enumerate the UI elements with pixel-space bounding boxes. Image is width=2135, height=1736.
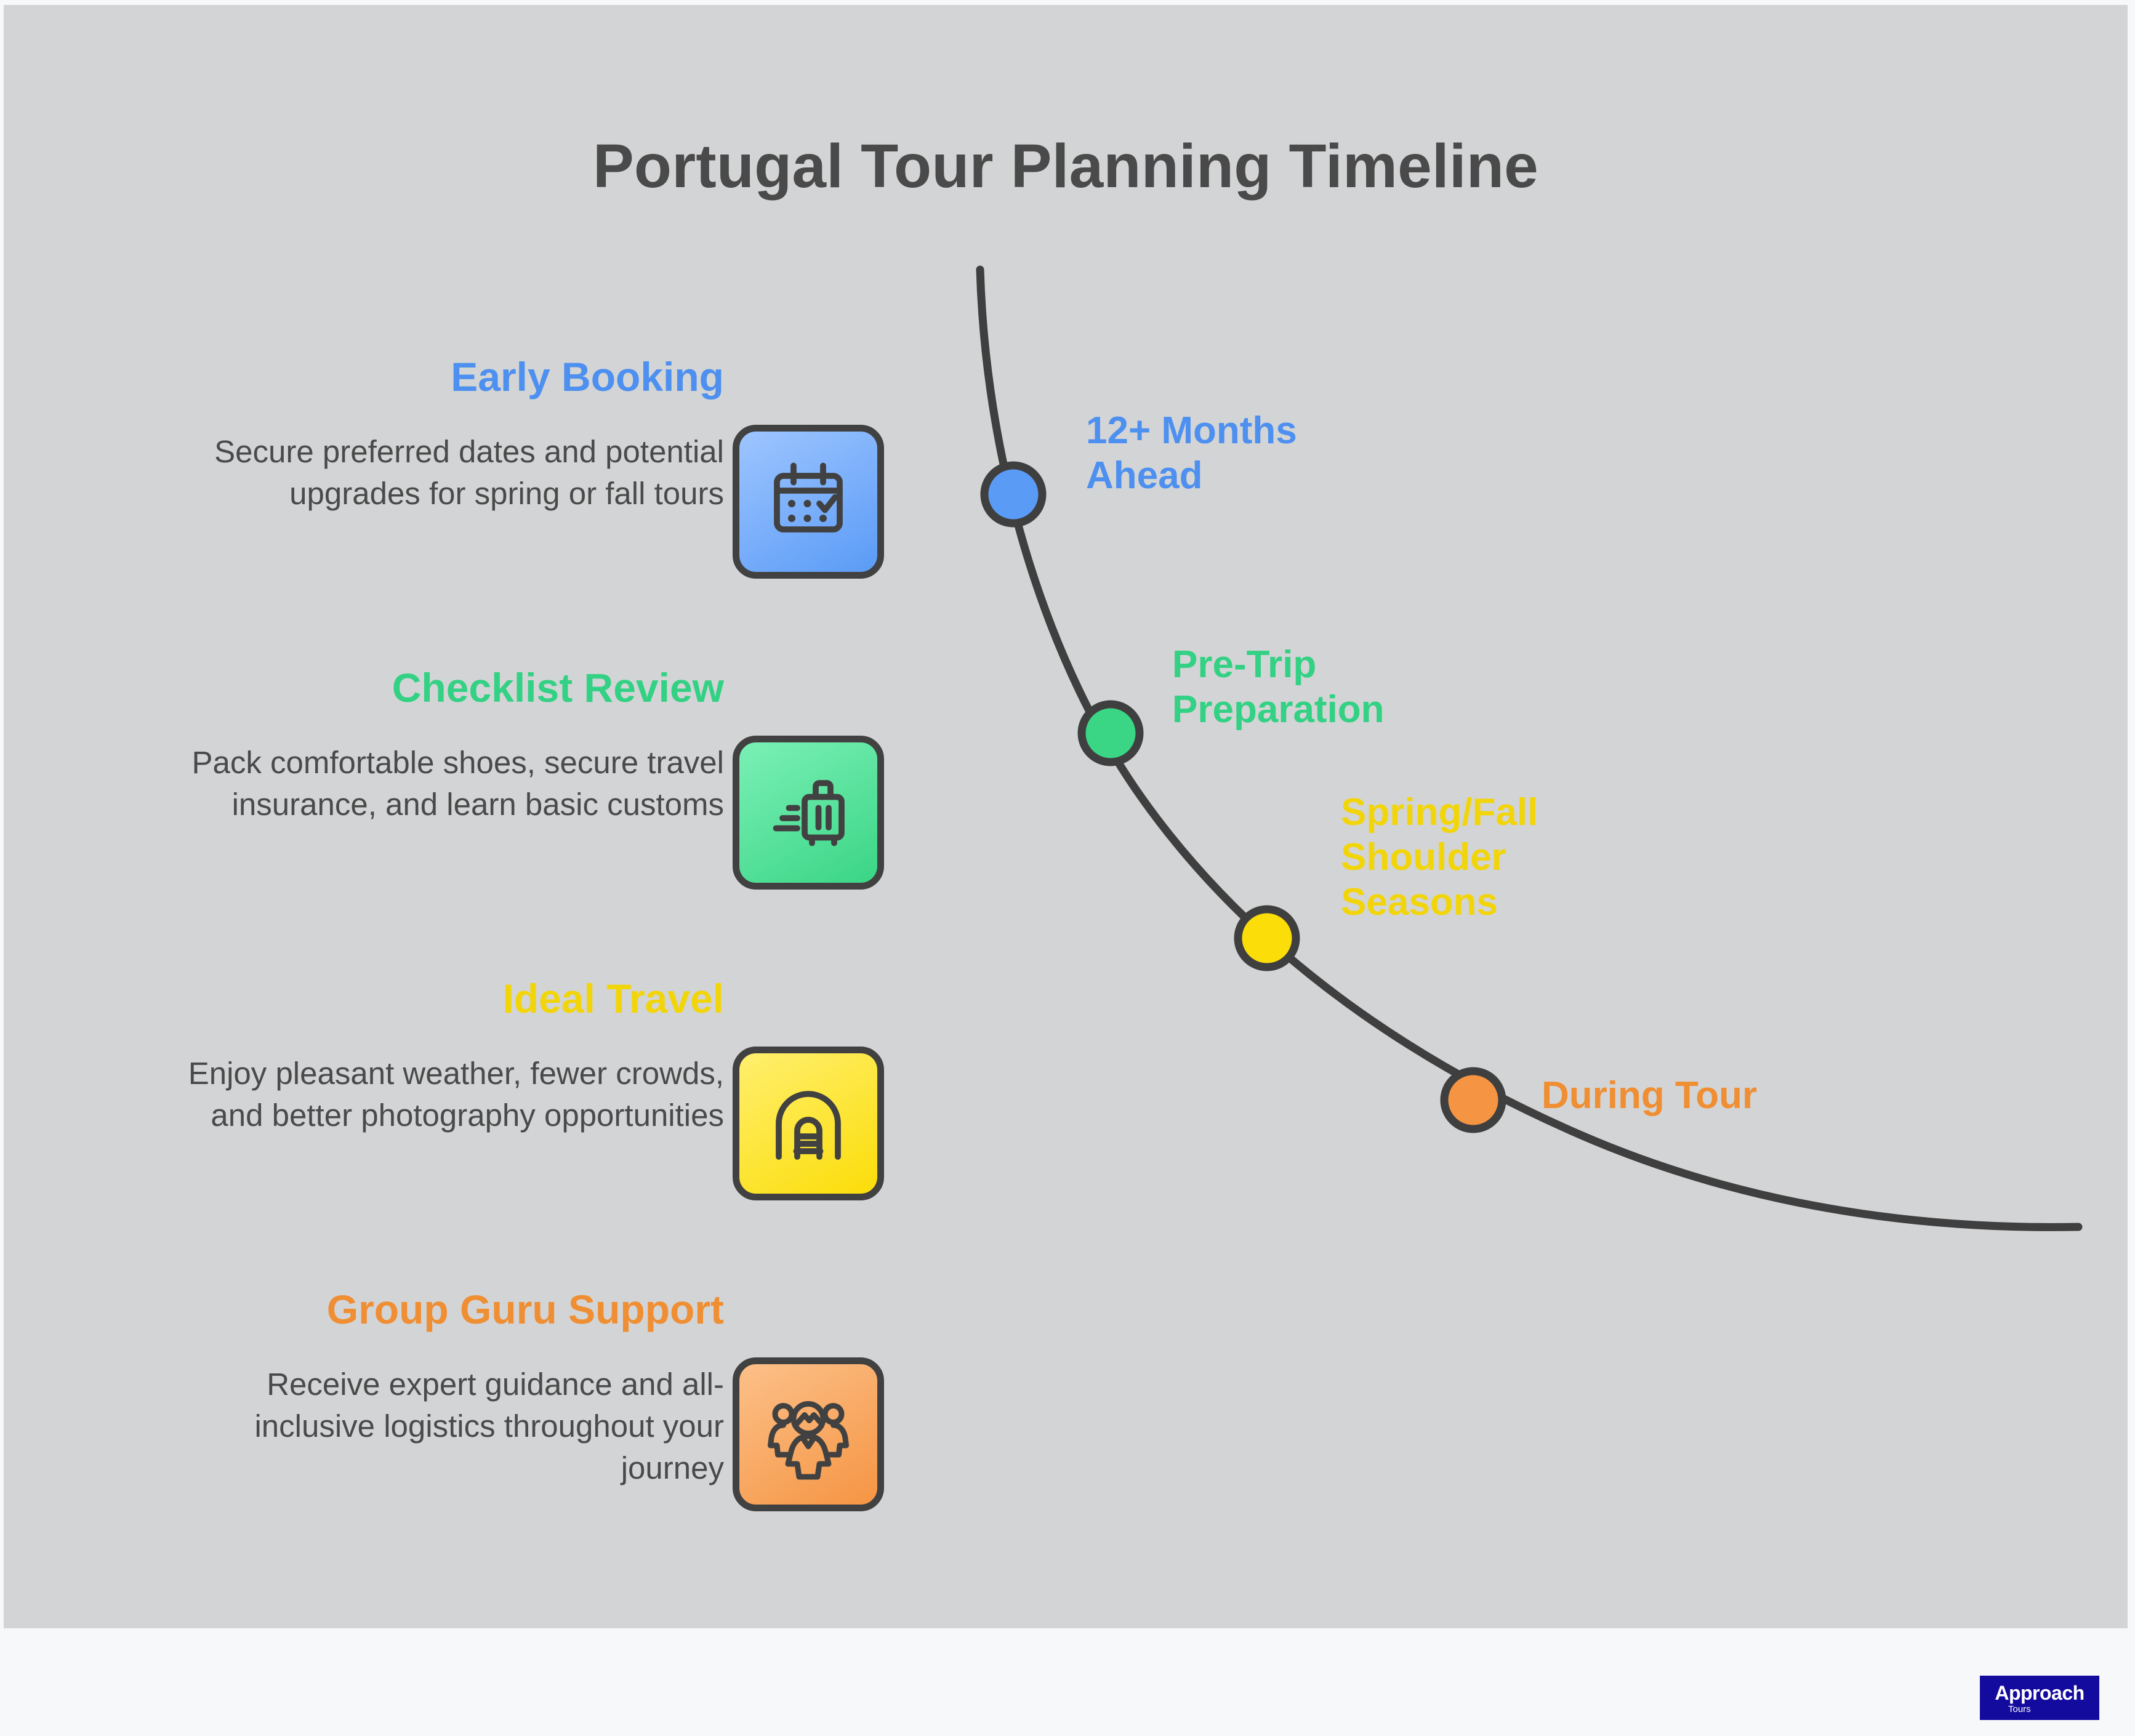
timeline-stage-label-2: Pre-Trip Preparation <box>1172 642 1492 732</box>
feature-description: Enjoy pleasant weather, fewer crowds, an… <box>182 1053 724 1136</box>
feature-block-checklist-review: Checklist Review Pack comfortable shoes,… <box>115 667 896 931</box>
timeline-dot-4[interactable] <box>1444 1071 1502 1129</box>
logo-subtext: Tours <box>2008 1705 2031 1714</box>
feature-description: Receive expert guidance and all-inclusiv… <box>182 1364 724 1489</box>
feature-heading: Ideal Travel <box>115 978 724 1020</box>
rolling-luggage-icon <box>733 736 884 890</box>
approach-tours-logo: Approach Tours <box>1980 1676 2099 1720</box>
infographic-canvas: Portugal Tour Planning Timeline 12+ Mont… <box>4 5 2128 1628</box>
feature-block-early-booking: Early Booking Secure preferred dates and… <box>115 356 896 621</box>
logo-wordmark: Approach <box>1995 1683 2084 1703</box>
feature-block-group-guru-support: Group Guru Support Receive expert guidan… <box>115 1288 896 1553</box>
calendar-check-icon <box>733 425 884 579</box>
timeline-stage-label-3: Spring/Fall Shoulder Seasons <box>1341 790 1630 925</box>
infographic-root: Portugal Tour Planning Timeline 12+ Mont… <box>0 0 2135 1736</box>
feature-heading: Checklist Review <box>115 667 724 709</box>
timeline-stage-label-4: During Tour <box>1542 1073 1886 1118</box>
feature-description: Pack comfortable shoes, secure travel in… <box>182 742 724 826</box>
feature-heading: Group Guru Support <box>115 1288 724 1331</box>
timeline-dot-2[interactable] <box>1082 704 1140 762</box>
timeline-dot-1[interactable] <box>984 465 1042 523</box>
railway-tunnel-icon <box>733 1047 884 1200</box>
timeline-stage-label-1: 12+ Months Ahead <box>1086 408 1406 498</box>
timeline-dot-3[interactable] <box>1238 909 1296 967</box>
feature-block-ideal-travel: Ideal Travel Enjoy pleasant weather, few… <box>115 978 896 1242</box>
feature-description: Secure preferred dates and potential upg… <box>182 431 724 515</box>
group-people-icon <box>733 1357 884 1511</box>
feature-heading: Early Booking <box>115 356 724 398</box>
